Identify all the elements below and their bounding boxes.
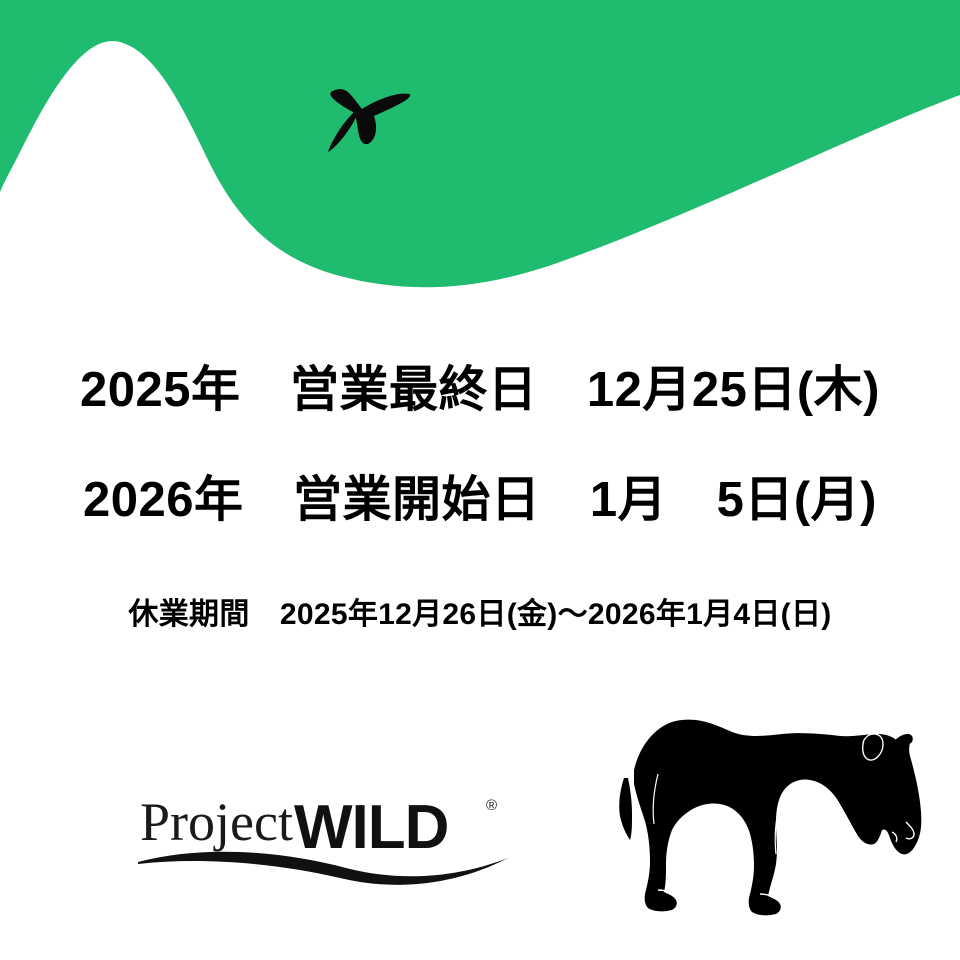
project-wild-logo: Project WILD ®	[136, 782, 526, 892]
holiday-period-line: 休業期間 2025年12月26日(金)〜2026年1月4日(日)	[0, 593, 960, 637]
logo-word-wild: WILD	[294, 793, 448, 862]
horse-silhouette-icon	[596, 694, 946, 944]
closing-date-line: 2025年 営業最終日 12月25日(木)	[0, 355, 960, 425]
green-hill-band	[0, 0, 960, 330]
logo-registered-mark: ®	[486, 797, 497, 814]
bird-silhouette-icon	[318, 82, 414, 154]
notice-text-block: 2025年 営業最終日 12月25日(木) 2026年 営業開始日 1月 5日(…	[0, 355, 960, 667]
logo-word-project: Project	[140, 792, 293, 852]
holiday-notice-poster: 2025年 営業最終日 12月25日(木) 2026年 営業開始日 1月 5日(…	[0, 0, 960, 960]
opening-date-line: 2026年 営業開始日 1月 5日(月)	[0, 465, 960, 535]
